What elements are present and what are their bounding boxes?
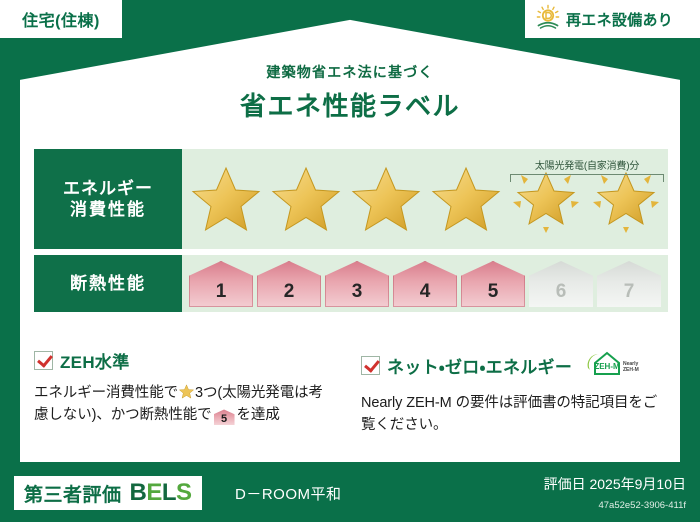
house-icon-level-1: 1 (189, 261, 253, 307)
energy-star-track: 太陽光発電(自家消費)分 (182, 149, 668, 249)
project-name: D－ROOM平和 (235, 483, 342, 504)
insulation-level-item: 2 (256, 260, 322, 307)
net-zero-energy-statement: ネット・ゼロ・エネルギー ZEH-M Nearly ZEH-M Nearly Z… (351, 348, 668, 437)
star-icon (191, 165, 261, 233)
zeh-standard-title: ZEH水準 (60, 348, 130, 373)
svg-text:ZEH-M: ZEH-M (623, 367, 639, 373)
star-icon (271, 165, 341, 233)
zeh-body-part3: を達成 (237, 407, 280, 423)
insulation-level-item: 5 (460, 260, 526, 307)
star-item (346, 149, 426, 249)
bels-letter-e: E (146, 479, 162, 506)
star-item-solar (586, 149, 666, 249)
bels-logo: BELS (130, 479, 192, 507)
insulation-performance-label: 断熱性能 (34, 255, 182, 312)
insulation-level-item: 3 (324, 260, 390, 307)
zeh-standard-body: エネルギー消費性能で 3つ(太陽光発電は考慮しない)、かつ断熱性能で5を達成 (34, 382, 337, 427)
house-icon-level-4: 4 (393, 261, 457, 307)
house-icon-level-6: 6 (529, 261, 593, 307)
insulation-level-item: 1 (188, 260, 254, 307)
bels-letter-l: L (162, 479, 176, 506)
star-icon-with-rays (591, 165, 661, 233)
zeh-body-part1: エネルギー消費性能で (34, 385, 178, 401)
renewable-equipment-badge: 再エネ設備あり (525, 0, 700, 38)
house-type-badge: 住宅(住棟) (0, 0, 122, 38)
renewable-badge-label: 再エネ設備あり (566, 9, 673, 30)
zeh-body-star-count: 3つ (195, 385, 217, 401)
zeh-standard-statement: ZEH水準 エネルギー消費性能で 3つ(太陽光発電は考慮しない)、かつ断熱性能で… (34, 348, 351, 437)
label-main-title: 省エネ性能ラベル (0, 86, 700, 123)
net-zero-body: Nearly ZEH-M の要件は評価書の特記項目をご覧ください。 (361, 392, 668, 437)
label-title-block: 建築物省エネ法に基づく 省エネ性能ラベル (0, 62, 700, 123)
certificate-id: 47a52e52-3906-411f (598, 500, 686, 511)
insulation-level-group: 1 2 3 4 5 6 (182, 255, 668, 312)
third-party-evaluation-label: 第三者評価 (24, 480, 122, 507)
statement-section: ZEH水準 エネルギー消費性能で 3つ(太陽光発電は考慮しない)、かつ断熱性能で… (34, 348, 668, 437)
house-icon-level-3: 3 (325, 261, 389, 307)
star-item (426, 149, 506, 249)
net-zero-header: ネット・ゼロ・エネルギー ZEH-M Nearly ZEH-M (361, 348, 668, 383)
zeh-m-logo-icon: ZEH-M Nearly ZEH-M (583, 348, 643, 383)
solar-sun-icon (535, 4, 561, 35)
insulation-label-text: 断熱性能 (70, 273, 146, 294)
star-item-solar (506, 149, 586, 249)
energy-performance-label: 住宅(住棟) 再エネ設備あり 建築 (0, 0, 700, 522)
checkmark-icon (34, 351, 53, 370)
inline-star-icon (179, 384, 194, 399)
insulation-level-item: 4 (392, 260, 458, 307)
label-subtitle: 建築物省エネ法に基づく (0, 62, 700, 82)
insulation-performance-row: 断熱性能 1 2 3 4 5 (34, 255, 668, 312)
performance-rows: エネルギー 消費性能 (34, 149, 668, 312)
bels-letter-s: S (176, 479, 192, 506)
star-item (186, 149, 266, 249)
energy-consumption-label: エネルギー 消費性能 (34, 149, 182, 249)
house-type-badge-label: 住宅(住棟) (22, 7, 100, 31)
svg-text:ZEH-M: ZEH-M (595, 362, 621, 371)
bels-letter-b: B (130, 479, 147, 506)
insulation-level-item: 7 (596, 260, 662, 307)
house-icon-level-2: 2 (257, 261, 321, 307)
net-zero-title: ネット・ゼロ・エネルギー (387, 353, 572, 378)
evaluation-date: 評価日 2025年9月10日 (544, 474, 686, 494)
energy-label-line2: 消費性能 (70, 199, 146, 220)
inline-house-icon: 5 (214, 409, 235, 425)
star-rating-group (182, 149, 668, 249)
house-icon-level-5: 5 (461, 261, 525, 307)
star-icon-with-rays (511, 165, 581, 233)
bels-certification-badge: 第三者評価 BELS (14, 476, 202, 510)
star-icon (431, 165, 501, 233)
zeh-standard-header: ZEH水準 (34, 348, 337, 373)
star-item (266, 149, 346, 249)
insulation-level-item: 6 (528, 260, 594, 307)
energy-label-line1: エネルギー (63, 178, 153, 199)
house-icon-level-7: 7 (597, 261, 661, 307)
energy-consumption-row: エネルギー 消費性能 (34, 149, 668, 249)
star-icon (351, 165, 421, 233)
insulation-level-track: 1 2 3 4 5 6 (182, 255, 668, 312)
checkmark-icon (361, 356, 380, 375)
